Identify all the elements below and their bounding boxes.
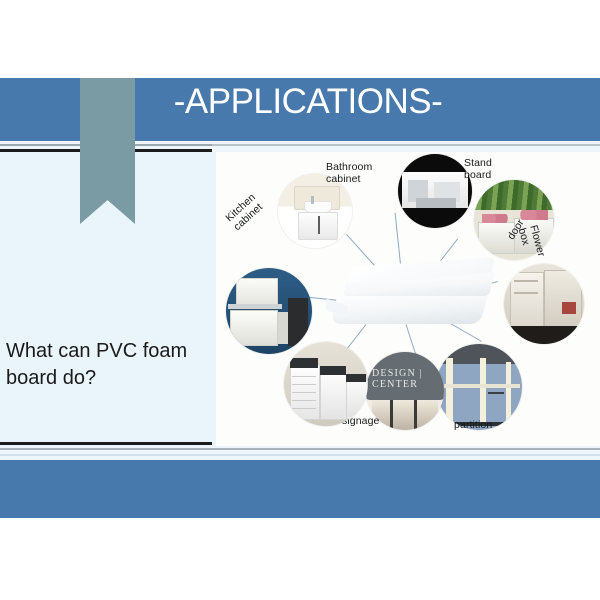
label-stand-board: Stand board <box>464 158 492 182</box>
center-pvc-foam-board <box>326 260 506 340</box>
signage-text: DESIGN | CENTER <box>372 368 442 384</box>
header-divider-right <box>212 144 600 146</box>
node-door <box>504 264 584 344</box>
node-stand-board <box>398 154 472 228</box>
node-furniture <box>284 342 368 426</box>
node-kitchen-cabinet <box>226 268 312 354</box>
footer-divider-grey <box>0 448 600 450</box>
node-partition <box>436 344 522 430</box>
left-panel-bottom-rule <box>0 442 212 445</box>
slide-canvas: -APPLICATIONS- What can PVC foam board d… <box>0 78 600 518</box>
question-text: What can PVC foam board do? <box>6 338 221 392</box>
footer-band <box>0 460 600 518</box>
label-partition: partition <box>454 420 492 432</box>
label-bathroom-cabinet: Bathroom cabinet <box>326 162 372 186</box>
label-kitchen-cabinet: Kitchen cabinet <box>224 192 266 233</box>
footer-divider-light <box>0 454 600 456</box>
applications-diagram-image: Bathroom cabinet Stand board Flower box <box>216 152 600 446</box>
